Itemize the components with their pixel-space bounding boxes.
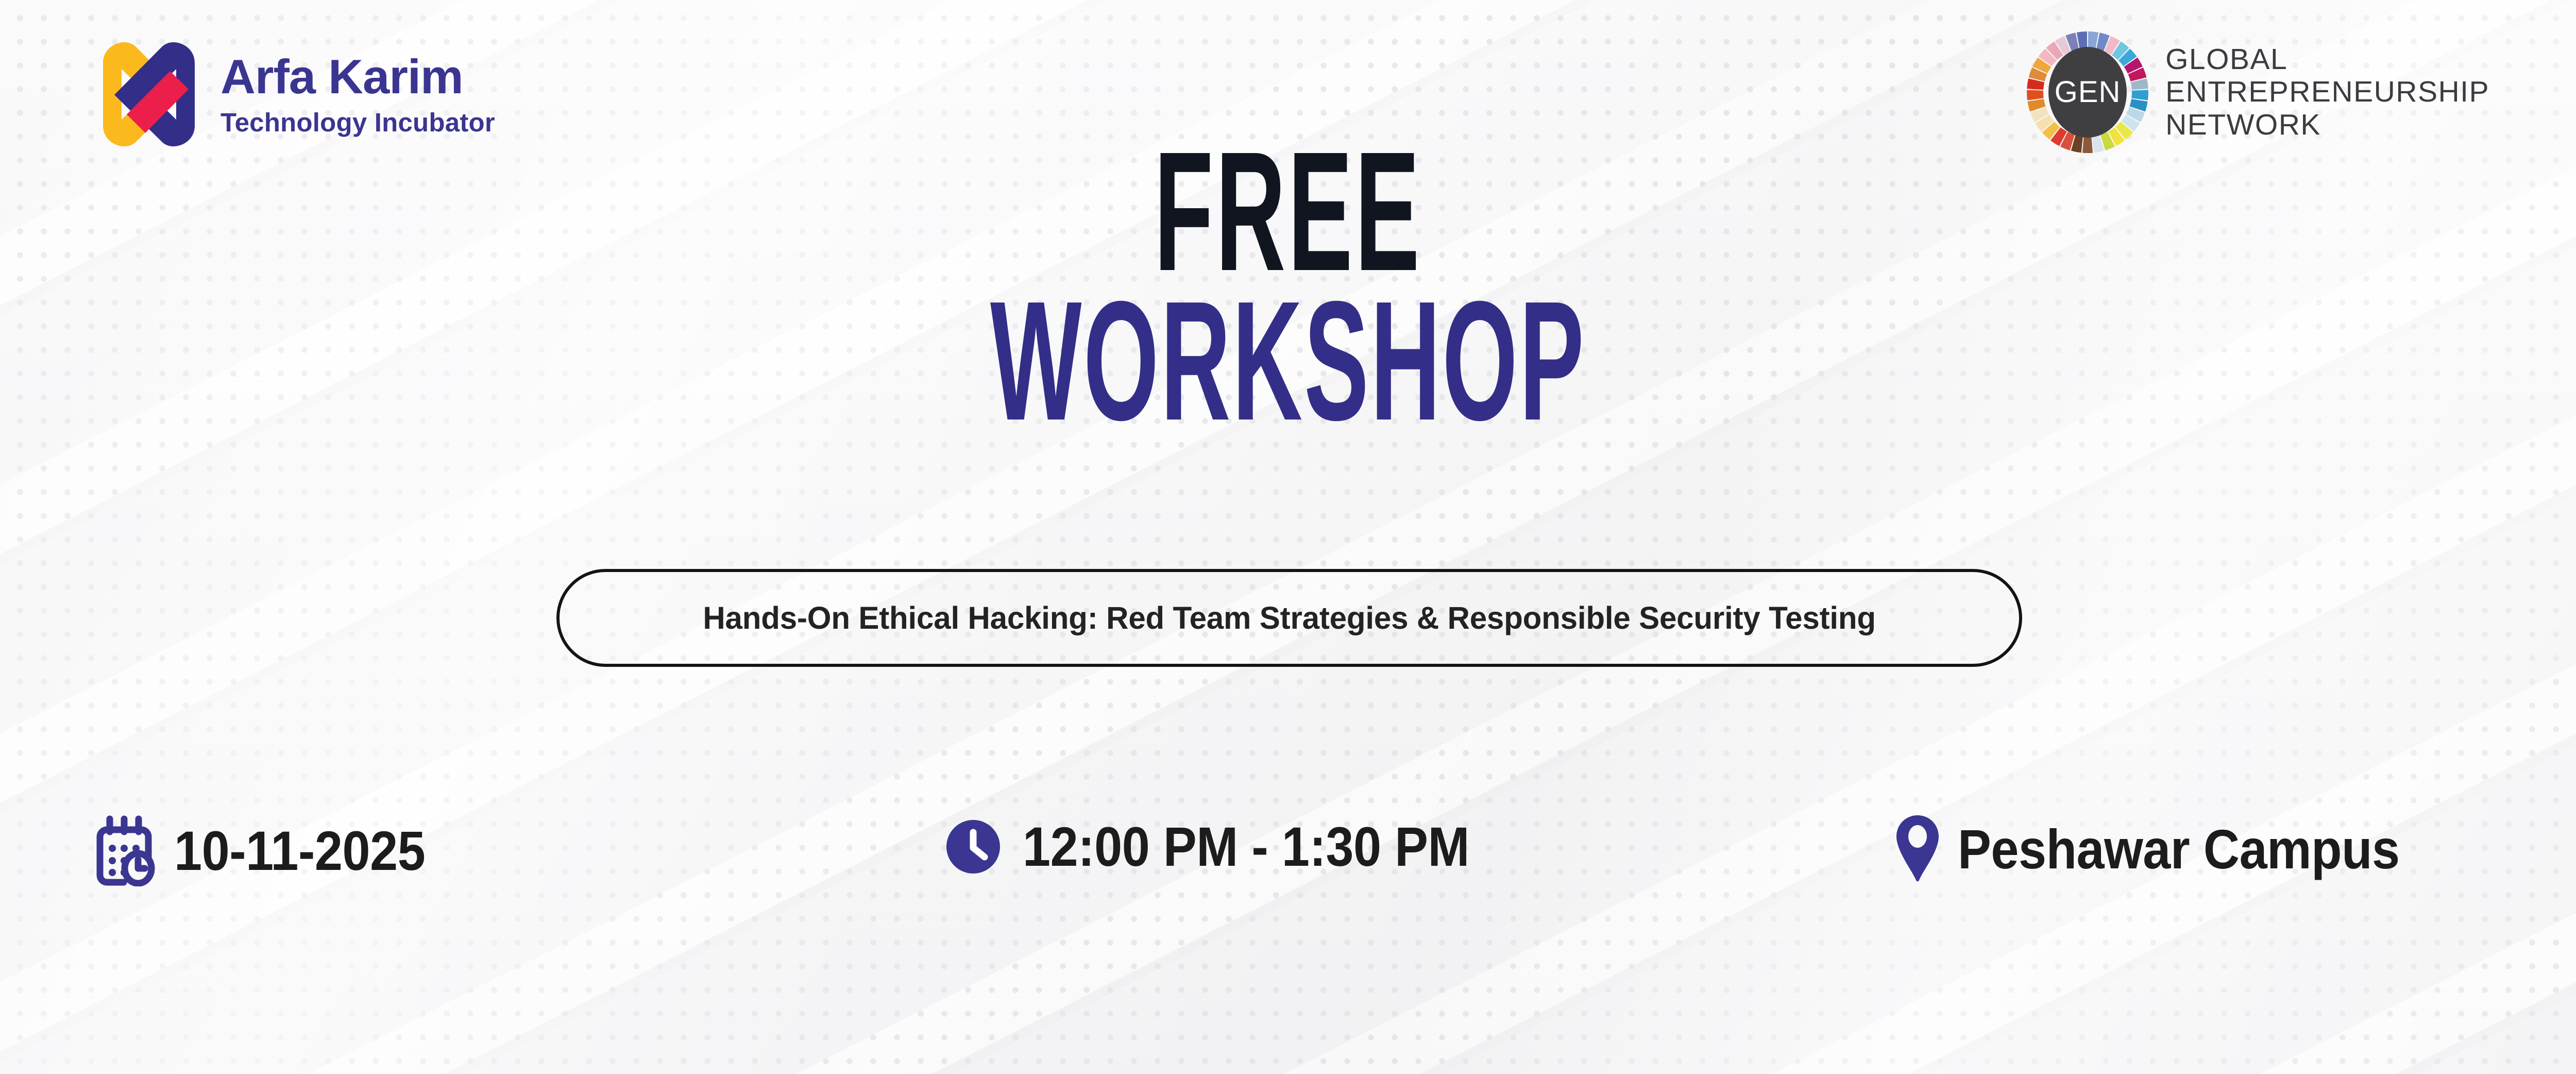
event-date-text: 10-11-2025 <box>174 818 425 883</box>
gen-name-line-1: GLOBAL <box>2165 43 2489 76</box>
event-banner: Arfa Karim Technology Incubator GEN GLOB… <box>0 0 2576 1074</box>
brand-subtitle: Technology Incubator <box>221 109 495 136</box>
brand-title: Arfa Karim <box>221 53 495 101</box>
gen-name-line-2: ENTREPRENEURSHIP <box>2165 76 2489 108</box>
event-location-item: Peshawar Campus <box>1895 814 2449 883</box>
event-date-item: 10-11-2025 <box>93 814 453 886</box>
event-details-row: 10-11-2025 12:00 PM - 1:30 PM Peshawar C… <box>0 814 2576 917</box>
gen-name-line-3: NETWORK <box>2165 109 2489 141</box>
workshop-topic-pill: Hands-On Ethical Hacking: Red Team Strat… <box>556 569 2022 667</box>
gen-logo: GEN GLOBAL ENTREPRENEURSHIP NETWORK <box>2026 31 2489 154</box>
workshop-topic-text: Hands-On Ethical Hacking: Red Team Strat… <box>703 600 1876 636</box>
clock-icon <box>945 819 1001 875</box>
headline-line-workshop: WORKSHOP <box>554 288 2022 434</box>
arfa-karim-logo: Arfa Karim Technology Incubator <box>93 37 495 150</box>
event-time-item: 12:00 PM - 1:30 PM <box>945 814 1519 879</box>
arfa-karim-wordmark: Arfa Karim Technology Incubator <box>221 53 495 136</box>
headline-line-free: FREE <box>554 138 2022 284</box>
gen-globe-icon: GEN <box>2026 31 2149 154</box>
gen-badge-text: GEN <box>2055 75 2121 109</box>
event-time-text: 12:00 PM - 1:30 PM <box>1023 814 1469 879</box>
arfa-karim-mark-icon <box>93 37 205 150</box>
headline-block: FREE WORKSHOP <box>0 138 2576 434</box>
calendar-clock-icon <box>93 814 156 886</box>
event-location-text: Peshawar Campus <box>1958 817 2400 881</box>
map-pin-icon <box>1895 814 1940 883</box>
gen-wordmark: GLOBAL ENTREPRENEURSHIP NETWORK <box>2165 43 2489 141</box>
